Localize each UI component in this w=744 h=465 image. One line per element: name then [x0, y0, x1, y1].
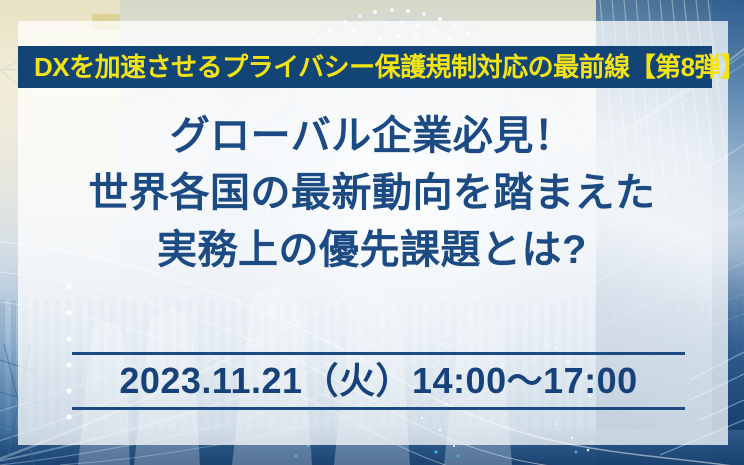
- schedule-datetime-label: 2023.11.21（火）14:00〜17:00: [119, 363, 637, 399]
- series-ribbon-label: DXを加速させるプライバシー保護規制対応の最前線【第8弾】: [34, 54, 744, 80]
- series-ribbon: DXを加速させるプライバシー保護規制対応の最前線【第8弾】: [18, 46, 712, 88]
- title-line-1: グローバル企業必見！: [0, 108, 744, 165]
- seminar-promo-banner: DXを加速させるプライバシー保護規制対応の最前線【第8弾】 グローバル企業必見！…: [0, 0, 744, 465]
- title-line-2: 世界各国の最新動向を踏まえた: [0, 165, 744, 222]
- title-line-3: 実務上の優先課題とは?: [0, 222, 744, 279]
- schedule-bar: 2023.11.21（火）14:00〜17:00: [72, 352, 685, 410]
- seminar-title: グローバル企業必見！ 世界各国の最新動向を踏まえた 実務上の優先課題とは?: [0, 108, 744, 278]
